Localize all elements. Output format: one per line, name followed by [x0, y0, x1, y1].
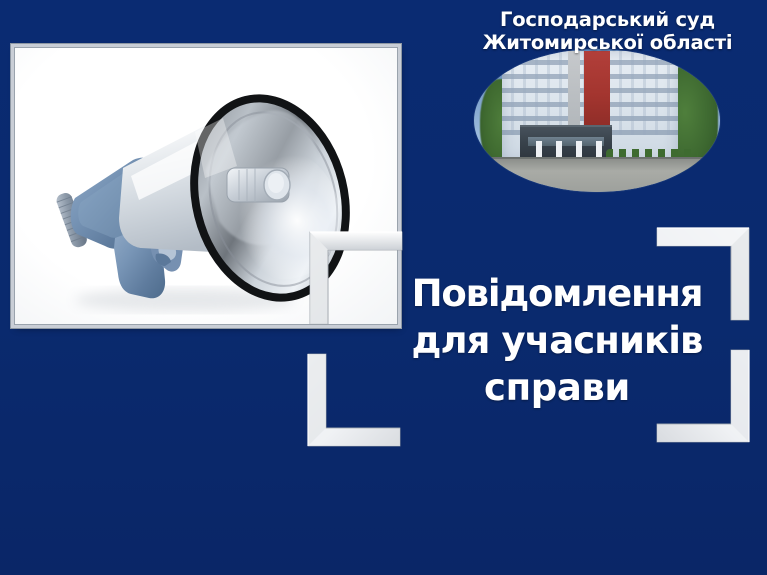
court-building-photo [474, 49, 720, 192]
slide-title-line-3: справи [392, 364, 722, 411]
court-name-caption: Господарський суд Житомирської області [455, 8, 760, 54]
corner-bracket-top-left [308, 230, 404, 330]
corner-bracket-bottom-left [306, 352, 402, 452]
ground-plaza [474, 159, 720, 192]
building-stripe-grey [568, 51, 580, 131]
presentation-slide: Господарський суд Житомирської області [0, 0, 767, 575]
slide-title: Повідомлення для учасників справи [392, 270, 722, 411]
slide-title-line-1: Повідомлення [392, 270, 722, 317]
court-name-line-2: Житомирської області [455, 31, 760, 54]
building-stripe-red [584, 51, 610, 131]
court-name-line-1: Господарський суд [455, 8, 760, 31]
slide-title-line-2: для учасників [392, 317, 722, 364]
